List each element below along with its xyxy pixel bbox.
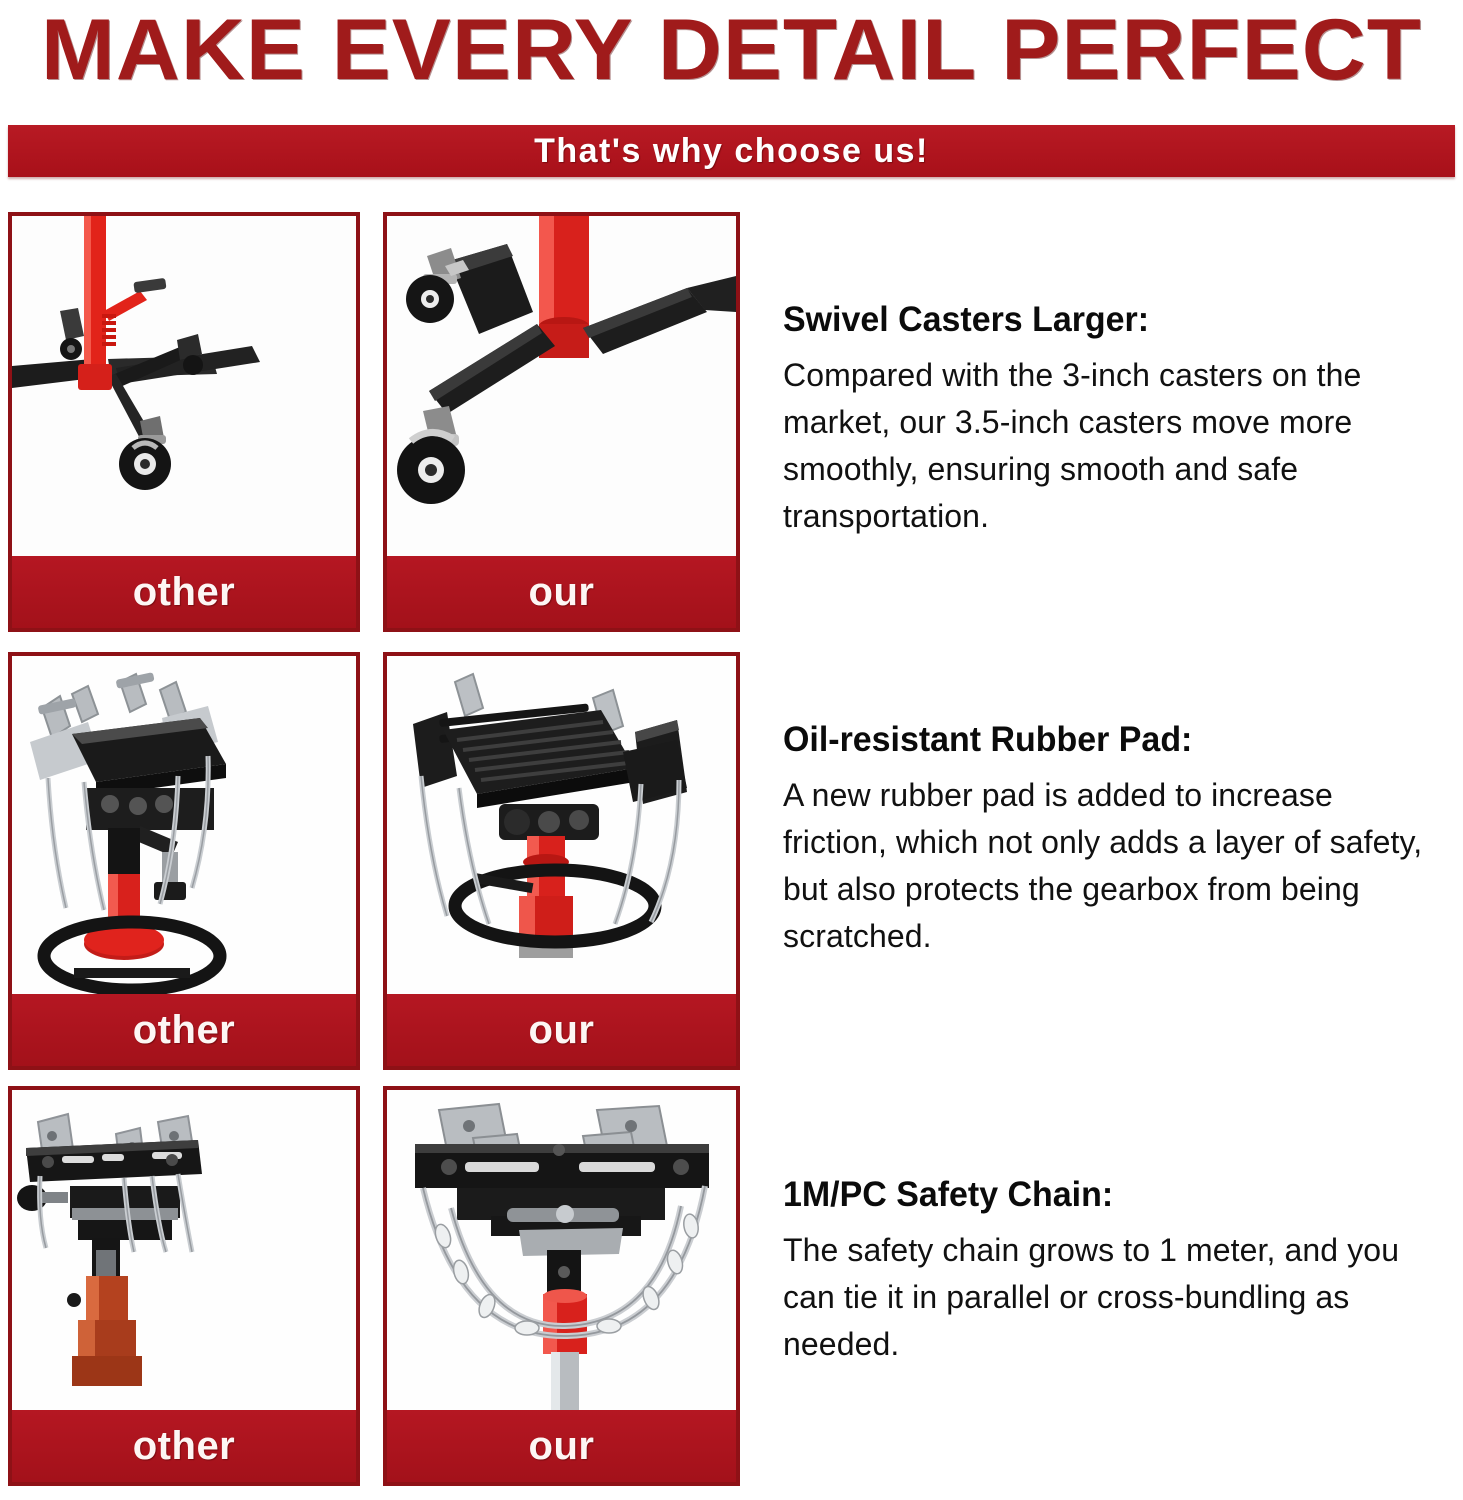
caption-text: our: [529, 1424, 595, 1469]
panel-safety-chain-other: other: [8, 1086, 360, 1486]
caption-other: other: [12, 994, 356, 1066]
panel-casters-our: our: [383, 212, 740, 632]
feature-body: A new rubber pad is added to increase fr…: [783, 772, 1443, 960]
safety-chain-our-photo: [387, 1090, 736, 1410]
panel-rubber-pad-other: other: [8, 652, 360, 1070]
caption-other: other: [12, 556, 356, 628]
feature-title: Oil-resistant Rubber Pad:: [783, 720, 1423, 760]
panel-safety-chain-our: our: [383, 1086, 740, 1486]
caption-text: other: [133, 1424, 236, 1469]
caption-text: our: [529, 570, 595, 615]
feature-swivel-casters: Swivel Casters Larger: Compared with the…: [783, 300, 1443, 540]
feature-rubber-pad: Oil-resistant Rubber Pad: A new rubber p…: [783, 720, 1443, 960]
page-headline: MAKE EVERY DETAIL PERFECT: [0, 0, 1463, 100]
caption-our: our: [387, 994, 736, 1066]
feature-body: The safety chain grows to 1 meter, and y…: [783, 1227, 1443, 1368]
comparison-grid: other: [0, 200, 760, 1500]
transmission-jack-base-our-photo: [387, 216, 736, 556]
caption-our: our: [387, 556, 736, 628]
feature-title: Swivel Casters Larger:: [783, 300, 1423, 340]
feature-title: 1M/PC Safety Chain:: [783, 1175, 1423, 1215]
jack-saddle-rubber-pad-our-photo: [387, 656, 736, 994]
caption-our: our: [387, 1410, 736, 1482]
subtitle-banner: That's why choose us!: [8, 125, 1455, 177]
caption-other: other: [12, 1410, 356, 1482]
caption-text: other: [133, 570, 236, 615]
feature-safety-chain: 1M/PC Safety Chain: The safety chain gro…: [783, 1175, 1443, 1368]
panel-rubber-pad-our: our: [383, 652, 740, 1070]
caption-text: other: [133, 1008, 236, 1053]
transmission-jack-base-other-photo: [12, 216, 356, 556]
panel-casters-other: other: [8, 212, 360, 632]
features-column: Swivel Casters Larger: Compared with the…: [783, 200, 1451, 1500]
subtitle-text: That's why choose us!: [534, 132, 929, 171]
comparison-row-casters: other: [0, 212, 760, 632]
safety-chain-other-photo: [12, 1090, 356, 1410]
caption-text: our: [529, 1008, 595, 1053]
feature-body: Compared with the 3-inch casters on the …: [783, 352, 1443, 540]
comparison-row-safety-chain: other: [0, 1086, 760, 1486]
comparison-row-rubber-pad: other: [0, 652, 760, 1070]
jack-saddle-plate-other-photo: [12, 656, 356, 994]
